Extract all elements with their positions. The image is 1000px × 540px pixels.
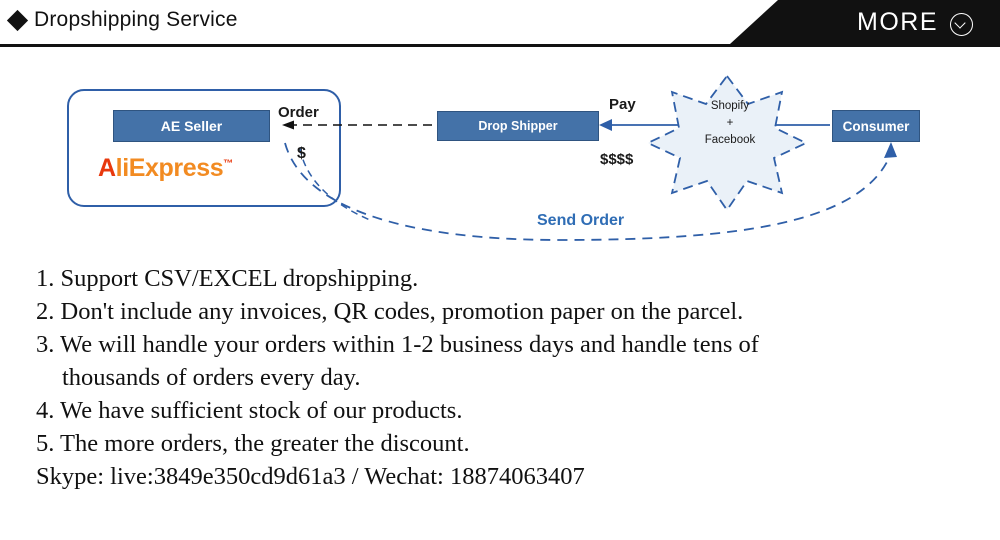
- diamond-icon: [7, 9, 28, 30]
- list-item-continuation: thousands of orders every day.: [36, 361, 976, 394]
- pay-arrow-head: [599, 119, 612, 131]
- page-header: Dropshipping Service MORE: [0, 0, 1000, 48]
- list-item: 1. Support CSV/EXCEL dropshipping.: [36, 262, 976, 295]
- node-ae-seller: AE Seller: [113, 110, 270, 142]
- more-button[interactable]: MORE: [730, 0, 1000, 44]
- order-arrow-head: [282, 121, 294, 130]
- contact-info: Skype: live:3849e350cd9d61a3 / Wechat: 1…: [36, 460, 976, 493]
- aliexpress-logo-rest: liExpress: [116, 154, 224, 182]
- send-order-stub: [300, 148, 370, 220]
- platform-star-line-3: Facebook: [680, 132, 780, 149]
- label-send-order: Send Order: [537, 212, 624, 230]
- dropshipping-flow-diagram: AE Seller Drop Shipper Consumer AliExpre…: [0, 48, 1000, 258]
- header-title-group: Dropshipping Service: [10, 8, 238, 32]
- label-pay: Pay: [609, 96, 636, 113]
- page-title: Dropshipping Service: [34, 8, 238, 32]
- label-dollar: $: [297, 145, 306, 163]
- platform-star-line-1: Shopify: [680, 98, 780, 115]
- send-order-arrow-head: [884, 142, 897, 158]
- list-item: 4. We have sufficient stock of our produ…: [36, 394, 976, 427]
- aliexpress-logo-a: A: [98, 154, 116, 182]
- node-consumer: Consumer: [832, 110, 920, 142]
- service-terms-list: 1. Support CSV/EXCEL dropshipping. 2. Do…: [36, 262, 976, 493]
- platform-star-line-2: +: [680, 115, 780, 132]
- list-item: 2. Don't include any invoices, QR codes,…: [36, 295, 976, 328]
- list-item: 5. The more orders, the greater the disc…: [36, 427, 976, 460]
- diagram-vector-layer: [0, 48, 1000, 258]
- label-payment-amount: $$$$: [600, 151, 633, 168]
- chevron-down-circle-icon: [950, 13, 973, 36]
- page-root: Dropshipping Service MORE: [0, 0, 1000, 540]
- aliexpress-logo-tm: ™: [223, 159, 233, 170]
- label-order: Order: [278, 104, 319, 121]
- aliexpress-logo: AliExpress™: [98, 154, 233, 183]
- node-drop-shipper: Drop Shipper: [437, 111, 599, 141]
- list-item: 3. We will handle your orders within 1-2…: [36, 328, 976, 361]
- platform-star-label: Shopify + Facebook: [680, 98, 780, 149]
- header-divider: [0, 44, 1000, 47]
- more-button-label: MORE: [857, 8, 938, 37]
